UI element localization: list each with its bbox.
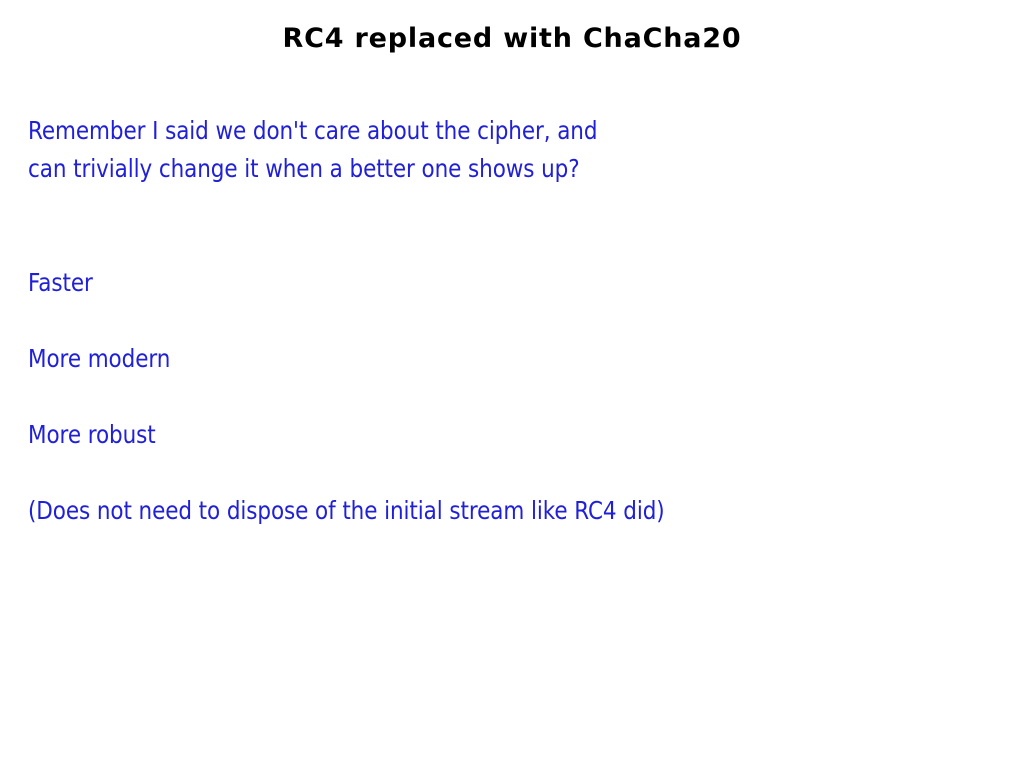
list-item: More robust (28, 416, 768, 492)
intro-line-1: Remember I said we don't care about the … (28, 112, 597, 150)
benefit-faster: Faster (28, 264, 665, 302)
intro-paragraph: Remember I said we don't care about the … (28, 112, 690, 188)
benefit-note-initial-stream: (Does not need to dispose of the initial… (28, 492, 665, 530)
benefit-more-modern: More modern (28, 340, 665, 378)
intro-line-2: can trivially change it when a better on… (28, 150, 597, 188)
slide-canvas: RC4 replaced with ChaCha20 Remember I sa… (0, 0, 1024, 768)
benefits-list: Faster More modern More robust (Does not… (28, 264, 768, 530)
list-item: (Does not need to dispose of the initial… (28, 492, 768, 530)
list-item: Faster (28, 264, 768, 340)
page-title: RC4 replaced with ChaCha20 (0, 22, 1024, 56)
list-item: More modern (28, 340, 768, 416)
benefit-more-robust: More robust (28, 416, 665, 454)
